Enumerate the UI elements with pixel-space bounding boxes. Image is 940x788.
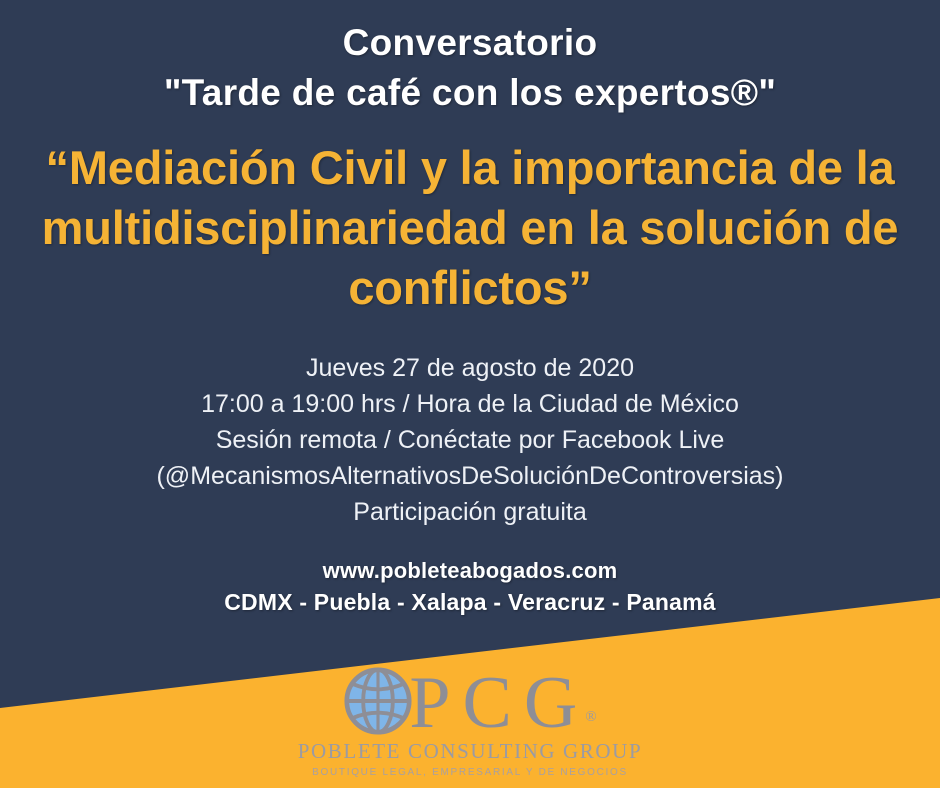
website-url[interactable]: www.pobleteabogados.com [0,556,940,586]
event-format: Sesión remota / Conéctate por Facebook L… [0,422,940,458]
company-logo: PCG ® POBLETE CONSULTING GROUP BOUTIQUE … [0,662,940,781]
globe-icon [339,662,417,740]
event-price: Participación gratuita [0,494,940,530]
facebook-handle: (@MecanismosAlternativosDeSoluciónDeCont… [0,458,940,494]
logo-initials: PCG [409,666,589,740]
company-tagline: BOUTIQUE LEGAL, EMPRESARIAL Y DE NEGOCIO… [0,765,940,781]
event-poster: Conversatorio "Tarde de café con los exp… [0,0,940,788]
event-time: 17:00 a 19:00 hrs / Hora de la Ciudad de… [0,386,940,422]
page-title: “Mediación Civil y la importancia de la … [0,116,940,318]
event-series-name: "Tarde de café con los expertos®" [0,64,940,116]
logo-mark: PCG ® [0,662,940,740]
contact-info: www.pobleteabogados.com CDMX - Puebla - … [0,530,940,618]
title-line-1: “Mediación Civil y la importancia de la [24,138,916,198]
event-date: Jueves 27 de agosto de 2020 [0,350,940,386]
event-series-label: Conversatorio [0,0,940,64]
title-line-3: conflictos” [24,258,916,318]
poster-content: Conversatorio "Tarde de café con los exp… [0,0,940,618]
title-line-2: multidisciplinariedad en la solución de [24,198,916,258]
registered-trademark-icon: ® [585,709,596,726]
event-details: Jueves 27 de agosto de 2020 17:00 a 19:0… [0,318,940,530]
office-cities: CDMX - Puebla - Xalapa - Veracruz - Pana… [0,586,940,618]
